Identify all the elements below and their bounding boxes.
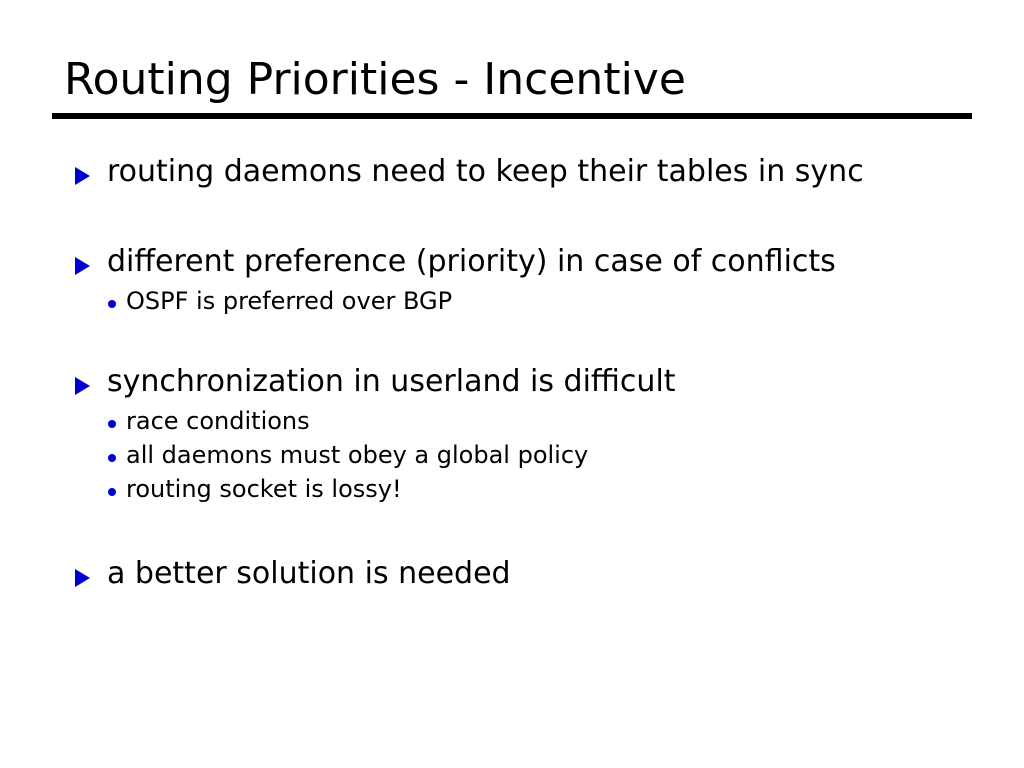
slide-body-bullet-list: routing daemons need to keep their table… xyxy=(0,150,1024,596)
list-item-label: synchronization in userland is difficult xyxy=(107,360,676,404)
sub-list-item-label: routing socket is lossy! xyxy=(126,472,402,506)
triangle-right-icon xyxy=(75,375,107,395)
sub-list-item-label: OSPF is preferred over BGP xyxy=(126,284,452,318)
bullet-group: different preference (priority) in case … xyxy=(0,240,1024,318)
sub-list-item-label: all daemons must obey a global policy xyxy=(126,438,588,472)
sub-list-item-label: race conditions xyxy=(126,404,310,438)
list-item-label: routing daemons need to keep their table… xyxy=(107,150,864,194)
bullet-dot-icon xyxy=(108,413,126,432)
group-spacer xyxy=(0,194,1024,240)
title-divider-rule xyxy=(52,113,972,119)
triangle-right-icon xyxy=(75,255,107,275)
triangle-right-icon xyxy=(75,567,107,587)
presentation-slide: Routing Priorities - Incentive routing d… xyxy=(0,0,1024,768)
bullet-dot-icon xyxy=(108,481,126,500)
bullet-dot-icon xyxy=(108,293,126,312)
list-item: different preference (priority) in case … xyxy=(0,240,1024,284)
list-item: synchronization in userland is difficult xyxy=(0,360,1024,404)
sub-list-item: routing socket is lossy! xyxy=(0,472,1024,506)
group-spacer xyxy=(0,506,1024,552)
sub-list-item: race conditions xyxy=(0,404,1024,438)
bullet-dot-icon xyxy=(108,447,126,466)
group-spacer xyxy=(0,318,1024,360)
list-item: routing daemons need to keep their table… xyxy=(0,150,1024,194)
sub-list-item: all daemons must obey a global policy xyxy=(0,438,1024,472)
list-item-label: different preference (priority) in case … xyxy=(107,240,836,284)
triangle-right-icon xyxy=(75,165,107,185)
bullet-group: routing daemons need to keep their table… xyxy=(0,150,1024,194)
list-item-label: a better solution is needed xyxy=(107,552,511,596)
bullet-group: synchronization in userland is difficult… xyxy=(0,360,1024,506)
sub-list-item: OSPF is preferred over BGP xyxy=(0,284,1024,318)
page-title: Routing Priorities - Incentive xyxy=(64,52,686,108)
list-item: a better solution is needed xyxy=(0,552,1024,596)
bullet-group: a better solution is needed xyxy=(0,552,1024,596)
